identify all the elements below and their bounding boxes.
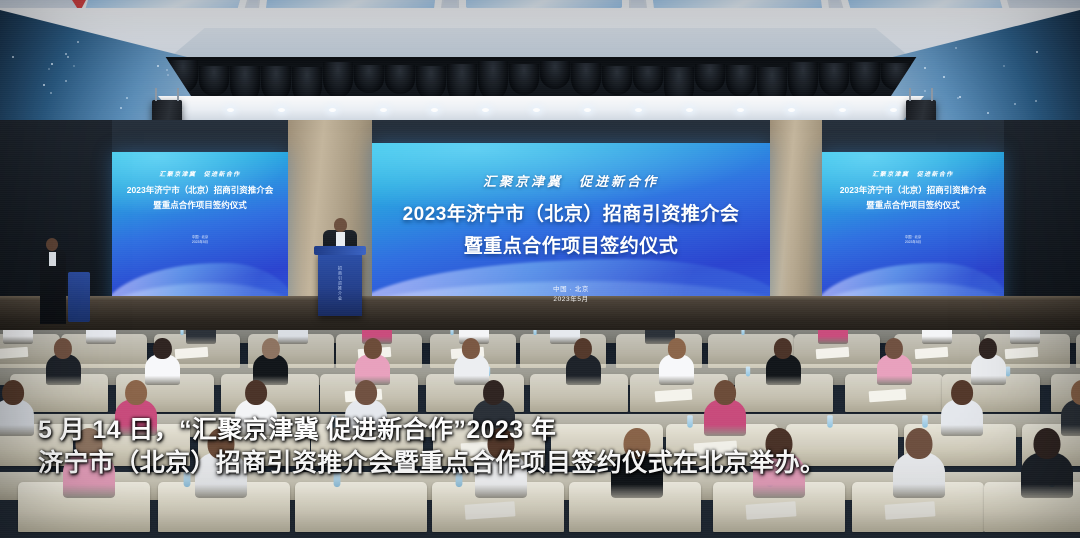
attendant-shirt	[49, 252, 56, 266]
audience-member	[3, 330, 33, 344]
ceiling-downlight	[380, 108, 387, 112]
screen-footer: 中国 · 北京 2023年5月	[112, 235, 288, 246]
ceiling-star	[50, 92, 52, 94]
ceiling-star	[48, 68, 50, 70]
audience-member-head	[126, 380, 148, 405]
screen-footer-location: 中国 · 北京	[372, 285, 770, 295]
ceiling-star	[77, 41, 79, 43]
screen-slogan: 汇聚京津冀 促进新合作	[822, 169, 1004, 178]
ceiling-star	[1035, 100, 1037, 102]
ceiling-star	[65, 80, 67, 82]
audience-member-head	[2, 380, 24, 405]
led-screen-main: 汇聚京津冀 促进新合作 2023年济宁市（北京）招商引资推介会 暨重点合作项目签…	[372, 143, 770, 309]
truss-baffle	[633, 66, 663, 93]
ceiling-downlight	[635, 108, 642, 112]
screen-title-line2: 暨重点合作项目签约仪式	[822, 199, 1004, 211]
ceiling-downlight	[788, 108, 795, 112]
caption-overlay: 5 月 14 日，“汇聚京津冀 促进新合作”2023 年 济宁市（北京）招商引资…	[38, 414, 1048, 479]
truss-baffle	[695, 64, 725, 92]
audience-member	[922, 330, 952, 344]
audience-member-head	[462, 338, 480, 359]
audience-member-head	[668, 338, 686, 359]
audience-member-torso	[0, 399, 34, 436]
audience-member	[454, 338, 489, 385]
audience-member	[1010, 330, 1040, 344]
audience-member-head	[355, 380, 377, 405]
podium: 招商引资推介会	[318, 252, 362, 316]
audience-member	[971, 338, 1006, 385]
audience-member	[253, 338, 288, 385]
water-bottle	[746, 367, 750, 377]
attendant-head	[46, 238, 58, 251]
screen-footer: 中国 · 北京 2023年5月	[372, 285, 770, 305]
audience-member	[145, 338, 180, 385]
speaker-head	[334, 218, 347, 232]
audience-member	[566, 338, 601, 385]
ceiling-downlight	[431, 108, 438, 112]
led-screen-left: 汇聚京津冀 促进新合作 2023年济宁市（北京）招商引资推介会 暨重点合作项目签…	[112, 152, 288, 310]
standing-attendant	[38, 238, 68, 324]
ceiling-downlight	[737, 108, 744, 112]
audience-member-head	[885, 338, 903, 359]
ceiling-star	[12, 56, 14, 58]
audience-member-head	[153, 338, 171, 359]
ceiling-downlight	[890, 108, 897, 112]
audience-member-torso	[922, 330, 952, 344]
truss-baffle	[509, 64, 539, 95]
ceiling-star	[43, 84, 45, 86]
ceiling-star	[959, 96, 961, 98]
side-lectern	[68, 272, 90, 322]
audience-member-head	[262, 338, 280, 359]
ceiling-star	[955, 47, 957, 49]
ceiling-star	[67, 56, 69, 58]
truss-baffle	[323, 62, 353, 98]
truss-baffle	[354, 65, 384, 93]
screen-footer-date: 2023年5月	[822, 240, 1004, 245]
video-frame: 汇聚京津冀 促进新合作 2023年济宁市（北京）招商引资推介会 暨重点合作项目签…	[0, 0, 1080, 538]
ceiling-star	[157, 65, 159, 67]
audience-member-head	[951, 380, 973, 405]
led-screen-main-content: 汇聚京津冀 促进新合作 2023年济宁市（北京）招商引资推介会 暨重点合作项目签…	[372, 171, 770, 305]
ceiling-star	[120, 107, 122, 109]
audience-member-head	[774, 338, 792, 359]
audience-member-torso	[186, 330, 216, 344]
ceiling-downlight	[686, 108, 693, 112]
audience-member-head	[714, 380, 736, 405]
ceiling-star	[1014, 103, 1016, 105]
truss-baffle	[788, 62, 818, 101]
screen-title-line2: 暨重点合作项目签约仪式	[112, 199, 288, 211]
ceiling-star	[73, 65, 75, 67]
podium-band	[314, 246, 366, 255]
ceiling-star	[924, 67, 926, 69]
truss-baffle	[571, 63, 601, 96]
ceiling-star	[167, 74, 169, 76]
audience-chair	[1076, 334, 1080, 368]
truss-baffle	[478, 61, 508, 101]
ceiling-star	[166, 69, 168, 71]
audience-member-head	[364, 338, 382, 359]
ceiling-star	[924, 90, 926, 92]
ceiling-star	[65, 53, 67, 55]
ceiling-star	[126, 97, 128, 99]
ceiling-downlight	[278, 108, 285, 112]
screen-footer: 中国 · 北京 2023年5月	[822, 235, 1004, 246]
audience-member	[355, 338, 390, 385]
truss-baffle	[199, 66, 229, 96]
truss-baffle	[602, 66, 632, 95]
ceiling-downlight	[584, 108, 591, 112]
truss-baffle	[385, 65, 415, 94]
truss-baffle	[416, 66, 446, 99]
ceiling-downlight	[227, 108, 234, 112]
ceiling-downlight	[533, 108, 540, 112]
ceiling-star	[943, 76, 945, 78]
audience-member	[766, 338, 801, 385]
screen-footer-date: 2023年5月	[112, 240, 288, 245]
audience-member-head	[483, 380, 505, 405]
audience-member	[186, 330, 216, 344]
screen-title-line2: 暨重点合作项目签约仪式	[372, 231, 770, 258]
truss-baffle	[819, 63, 849, 96]
led-screen-left-content: 汇聚京津冀 促进新合作 2023年济宁市（北京）招商引资推介会 暨重点合作项目签…	[112, 169, 288, 246]
caption-line-1: 5 月 14 日，“汇聚京津冀 促进新合作”2023 年	[38, 414, 1048, 447]
screen-slogan: 汇聚京津冀 促进新合作	[112, 169, 288, 178]
audience-member-torso	[818, 330, 848, 344]
truss-baffle	[850, 62, 880, 96]
audience-member-torso	[1010, 330, 1040, 344]
screen-footer-date: 2023年5月	[372, 295, 770, 305]
led-screen-right: 汇聚京津冀 促进新合作 2023年济宁市（北京）招商引资推介会 暨重点合作项目签…	[822, 152, 1004, 310]
ceiling-star	[987, 112, 989, 114]
audience-member	[877, 338, 912, 385]
audience-member-head	[979, 338, 997, 359]
screen-title-line1: 2023年济宁市（北京）招商引资推介会	[112, 184, 288, 196]
audience-member	[818, 330, 848, 344]
screen-slogan: 汇聚京津冀 促进新合作	[372, 171, 770, 190]
led-screen-right-content: 汇聚京津冀 促进新合作 2023年济宁市（北京）招商引资推介会 暨重点合作项目签…	[822, 169, 1004, 246]
audience-member-head	[54, 338, 72, 359]
ceiling-sky-panel	[466, 0, 622, 8]
ceiling-star	[1003, 65, 1005, 67]
water-bottle	[534, 330, 537, 335]
ceiling-downlight	[482, 108, 489, 112]
caption-line-2: 济宁市（北京）招商引资推介会暨重点合作项目签约仪式在北京举办。	[38, 447, 1048, 480]
ceiling-downlight	[329, 108, 336, 112]
truss-baffle	[540, 61, 570, 90]
water-bottle	[1006, 367, 1010, 377]
ceiling-downlight	[839, 108, 846, 112]
audience-member-head	[574, 338, 592, 359]
podium-vertical-text: 招商引资推介会	[337, 266, 343, 301]
screen-title-line1: 2023年济宁市（北京）招商引资推介会	[822, 184, 1004, 196]
audience-member	[659, 338, 694, 385]
ceiling-star	[1036, 51, 1038, 53]
audience-member	[86, 330, 116, 344]
audience-member-head	[245, 380, 267, 405]
audience-chair	[295, 482, 427, 532]
audience-member-torso	[3, 330, 33, 344]
ceiling-star	[51, 63, 53, 65]
water-bottle	[181, 330, 184, 335]
audience-member	[46, 338, 81, 385]
truss-baffle	[726, 65, 756, 98]
screen-title-line1: 2023年济宁市（北京）招商引资推介会	[372, 199, 770, 226]
audience-member-torso	[86, 330, 116, 344]
audience-member	[0, 380, 34, 436]
